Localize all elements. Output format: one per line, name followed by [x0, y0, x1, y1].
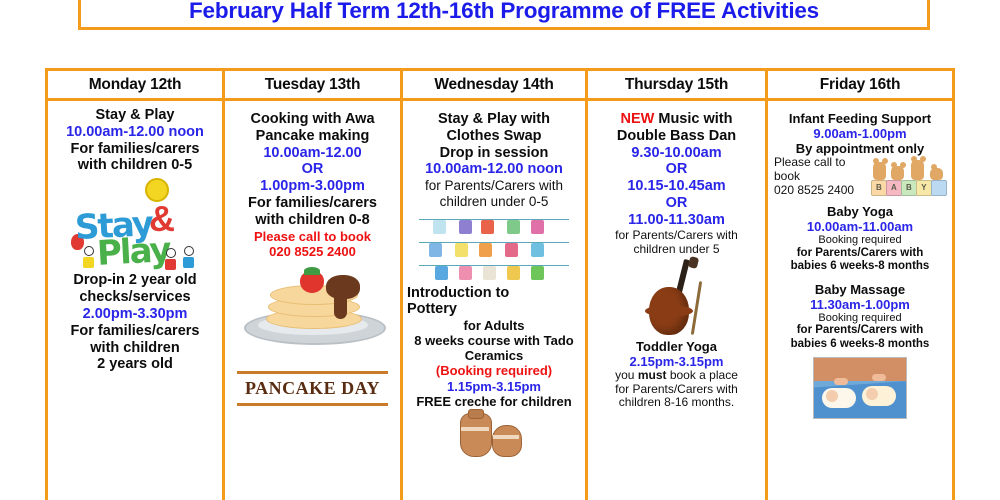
monday-activity2-title: Drop-in 2 year old	[52, 272, 218, 289]
logo-word-play: Play	[96, 230, 171, 274]
weekly-schedule-grid: Monday 12th Stay & Play 10.00am-12.00 no…	[45, 68, 955, 500]
pancake-stack-icon	[242, 263, 384, 367]
friday-activity-title: Infant Feeding Support	[772, 111, 948, 126]
friday-activity-time: 9.00am-1.00pm	[772, 126, 948, 141]
double-bass-icon	[639, 261, 715, 339]
thursday-or-1: OR	[592, 161, 761, 178]
day-content-thursday: NEW Music with Double Bass Dan 9.30-10.0…	[585, 101, 765, 500]
tuesday-booking-phone[interactable]: 020 8525 2400	[229, 244, 396, 259]
day-column-wednesday: Wednesday 14th Stay & Play with Clothes …	[400, 68, 585, 500]
day-header-wednesday: Wednesday 14th	[400, 68, 585, 101]
monday-activity-title: Stay & Play	[52, 107, 218, 124]
day-content-tuesday: Cooking with Awa Pancake making 10.00am-…	[222, 101, 400, 500]
thursday-audience-1: for Parents/Carers with	[592, 229, 761, 243]
thursday-time-3: 11.00-11.30am	[592, 212, 761, 229]
monday-audience2-1: For families/carers	[52, 323, 218, 340]
thursday-audience2-1: for Parents/Carers with	[592, 383, 761, 397]
tuesday-time-2: 1.00pm-3.00pm	[229, 178, 396, 195]
monday-activity2-sub: checks/services	[52, 289, 218, 306]
thursday-activity-title-line2: Double Bass Dan	[592, 128, 761, 145]
half-term-programme-poster: February Half Term 12th-16th Programme o…	[0, 0, 1000, 500]
child-figure-icon	[165, 248, 176, 270]
wednesday-course-provider: Ceramics	[407, 348, 581, 363]
wednesday-audience3: for Adults	[407, 318, 581, 333]
thursday-activity2-title: Toddler Yoga	[592, 339, 761, 354]
day-label-monday: Monday 12th	[89, 76, 182, 94]
tuesday-time-or: OR	[229, 161, 396, 178]
wednesday-time: 10.00am-12.00 noon	[407, 161, 581, 178]
wednesday-session-type: Drop in session	[407, 145, 581, 162]
monday-activity-time: 10.00am-12.00 noon	[52, 124, 218, 141]
day-header-tuesday: Tuesday 13th	[222, 68, 400, 101]
day-label-thursday: Thursday 15th	[625, 76, 728, 94]
day-header-friday: Friday 16th	[765, 68, 955, 101]
thursday-activity-title-line1: NEW Music with	[592, 111, 761, 128]
day-content-friday: Infant Feeding Support 9.00am-1.00pm By …	[765, 101, 955, 500]
pancake-day-caption: PANCAKE DAY	[229, 378, 396, 399]
day-label-friday: Friday 16th	[820, 76, 901, 94]
teddy-blocks-icon: B A B Y	[871, 156, 946, 196]
wednesday-activity-sub: Clothes Swap	[407, 128, 581, 145]
day-header-thursday: Thursday 15th	[585, 68, 765, 101]
monday-audience-1: For families/carers	[52, 141, 218, 158]
new-badge: NEW	[621, 111, 655, 127]
tuesday-audience-2: with children 0-8	[229, 212, 396, 229]
day-column-tuesday: Tuesday 13th Cooking with Awa Pancake ma…	[222, 68, 400, 500]
day-content-wednesday: Stay & Play with Clothes Swap Drop in se…	[400, 101, 585, 500]
wednesday-course-info: 8 weeks course with Tado	[407, 333, 581, 348]
thursday-audience2-2: children 8-16 months.	[592, 396, 761, 410]
friday-activity3-audience-2: babies 6 weeks-8 months	[772, 338, 948, 351]
monday-activity2-time: 2.00pm-3.30pm	[52, 306, 218, 323]
wednesday-creche-note: FREE creche for children	[407, 394, 581, 409]
monday-audience2-2: with children	[52, 340, 218, 357]
friday-activity2-title: Baby Yoga	[772, 204, 948, 219]
child-figure-icon	[83, 246, 94, 268]
stay-and-play-logo-icon: Stay & Play	[69, 176, 201, 272]
thursday-title-rest: Music with	[658, 111, 732, 127]
tuesday-booking-note: Please call to book	[229, 229, 396, 244]
tuesday-time-1: 10.00am-12.00	[229, 145, 396, 162]
monday-audience2-3: 2 years old	[52, 356, 218, 373]
tuesday-activity-title: Cooking with Awa	[229, 111, 396, 128]
poster-title-box: February Half Term 12th-16th Programme o…	[78, 0, 930, 30]
day-column-thursday: Thursday 15th NEW Music with Double Bass…	[585, 68, 765, 500]
day-header-monday: Monday 12th	[45, 68, 222, 101]
monday-audience-2: with children 0-5	[52, 157, 218, 174]
wednesday-activity2-sub: Pottery	[407, 301, 581, 318]
day-column-monday: Monday 12th Stay & Play 10.00am-12.00 no…	[45, 68, 222, 500]
page-title: February Half Term 12th-16th Programme o…	[189, 0, 819, 27]
thursday-activity2-time: 2.15pm-3.15pm	[592, 354, 761, 369]
friday-activity3-title: Baby Massage	[772, 282, 948, 297]
friday-activity2-time: 10.00am-11.00am	[772, 219, 948, 234]
wednesday-booking-note: (Booking required)	[407, 363, 581, 378]
tuesday-audience-1: For families/carers	[229, 195, 396, 212]
day-content-monday: Stay & Play 10.00am-12.00 noon For famil…	[45, 101, 222, 500]
thursday-time-2: 10.15-10.45am	[592, 178, 761, 195]
clothes-swap-icon	[419, 216, 569, 282]
day-column-friday: Friday 16th Infant Feeding Support 9.00a…	[765, 68, 955, 500]
child-figure-icon	[183, 246, 194, 268]
friday-activity3-time: 11.30am-1.00pm	[772, 297, 948, 312]
friday-booking-note: Please call to book	[774, 156, 871, 184]
thursday-time-1: 9.30-10.00am	[592, 145, 761, 162]
friday-activity3-booking: Booking required	[772, 312, 948, 325]
thursday-booking-note: you must book a place	[592, 369, 761, 383]
wednesday-activity-title: Stay & Play with	[407, 111, 581, 128]
friday-activity2-audience-2: babies 6 weeks-8 months	[772, 260, 948, 273]
wednesday-course-time: 1.15pm-3.15pm	[407, 379, 581, 394]
tuesday-activity-sub: Pancake making	[229, 128, 396, 145]
pottery-icon	[446, 411, 542, 455]
day-label-wednesday: Wednesday 14th	[434, 76, 553, 94]
friday-activity2-audience-1: for Parents/Carers with	[772, 247, 948, 260]
wednesday-activity2-title: Introduction to	[407, 285, 581, 302]
bow-icon	[690, 281, 701, 335]
friday-appointment-note: By appointment only	[772, 141, 948, 156]
thursday-audience-2: children under 5	[592, 243, 761, 257]
wednesday-audience-1: for Parents/Carers with	[407, 178, 581, 194]
friday-activity2-booking: Booking required	[772, 234, 948, 247]
friday-booking-phone[interactable]: 020 8525 2400	[774, 184, 871, 198]
day-label-tuesday: Tuesday 13th	[265, 76, 361, 94]
wednesday-audience-2: children under 0-5	[407, 194, 581, 210]
thursday-or-2: OR	[592, 195, 761, 212]
baby-massage-photo	[813, 357, 907, 419]
friday-activity3-audience-1: for Parents/Carers with	[772, 324, 948, 337]
